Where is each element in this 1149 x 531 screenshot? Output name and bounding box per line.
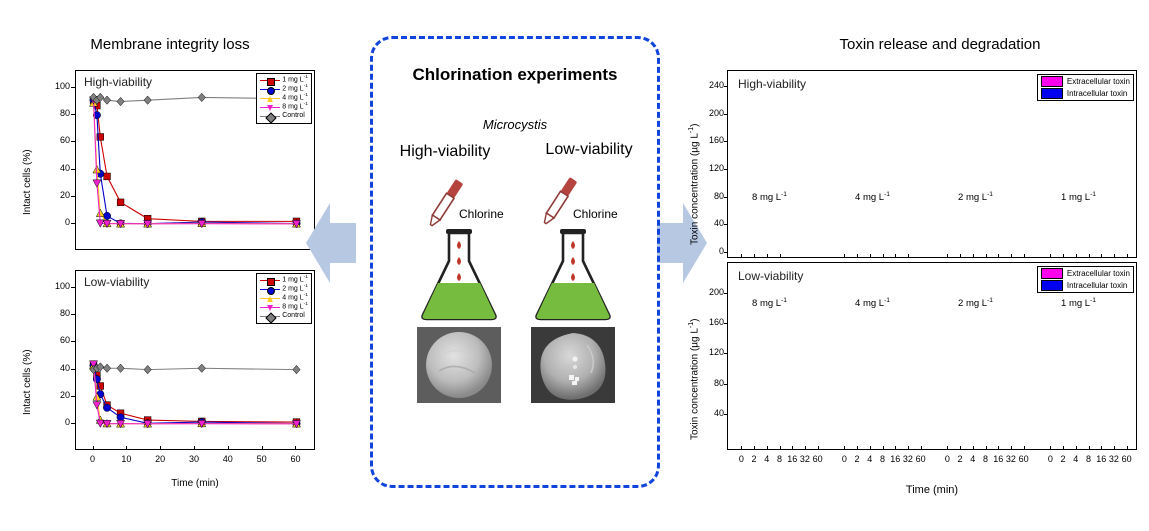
toxin-high-viability-tag: High-viability [738, 77, 806, 91]
x-tick-mark [767, 446, 768, 450]
membrane-high-viability-tag: High-viability [84, 75, 152, 89]
x-tick-mark [908, 254, 909, 258]
x-tick-mark [1063, 254, 1064, 258]
x-tick-mark [1050, 446, 1051, 450]
toxin-xlabel: Time (min) [727, 484, 1137, 496]
toxin-low-viability-tag: Low-viability [738, 269, 803, 283]
x-tick-mark [1101, 254, 1102, 258]
left-chart-title: Membrane integrity loss [0, 36, 340, 53]
toxin-low-viability-plot: 8 mg L-14 mg L-12 mg L-11 mg L-1 Low-via… [727, 262, 1137, 450]
y-tick-label: 0 [40, 417, 70, 427]
y-tick-mark [71, 141, 75, 142]
y-tick-mark [724, 169, 728, 170]
x-tick-mark [295, 446, 296, 450]
x-tick-mark [262, 446, 263, 450]
chlorine-label-left: Chlorine [459, 207, 504, 221]
x-tick-mark [857, 254, 858, 258]
dose-group-label: 2 mg L-1 [958, 191, 993, 203]
y-tick-label: 200 [692, 287, 724, 297]
x-tick-label: 60 [912, 454, 930, 464]
x-tick-mark [998, 254, 999, 258]
x-tick-label: 30 [184, 454, 204, 464]
y-tick-mark [71, 196, 75, 197]
x-tick-mark [780, 446, 781, 450]
center-high-viability-label: High-viability [377, 143, 513, 161]
x-tick-mark [1063, 446, 1064, 450]
intracellular-swatch-icon [1041, 280, 1063, 291]
x-tick-mark [160, 446, 161, 450]
toxin-figure: Toxin release and degradation 8 mg L-14 … [680, 0, 1149, 531]
x-tick-mark [1024, 254, 1025, 258]
x-tick-label: 60 [1118, 454, 1136, 464]
x-tick-mark [986, 254, 987, 258]
x-tick-mark [1050, 254, 1051, 258]
arrow-left [306, 185, 358, 295]
membrane-high-viability-legend: 1 mg L-12 mg L-14 mg L-18 mg L-1Control [256, 73, 312, 124]
extracellular-swatch-icon [1041, 76, 1063, 87]
toxin-legend-item: Extracellular toxin [1041, 76, 1130, 88]
y-tick-label: 80 [40, 108, 70, 118]
y-tick-mark [724, 323, 728, 324]
y-tick-label: 60 [40, 335, 70, 345]
legend-label: Control [282, 312, 305, 321]
y-tick-label: 40 [40, 363, 70, 373]
toxin-legend-label: Extracellular toxin [1067, 76, 1130, 88]
x-tick-mark [908, 446, 909, 450]
membrane-high-viability-plot: High-viability 1 mg L-12 mg L-14 mg L-18… [75, 70, 315, 250]
x-tick-mark [93, 446, 94, 450]
y-tick-mark [71, 287, 75, 288]
x-tick-mark [741, 254, 742, 258]
toxin-legend-label: Intracellular toxin [1067, 280, 1127, 292]
y-tick-mark [724, 353, 728, 354]
x-tick-mark [1011, 446, 1012, 450]
y-tick-label: 20 [40, 190, 70, 200]
x-tick-mark [960, 446, 961, 450]
x-tick-mark [870, 446, 871, 450]
membrane-integrity-figure: Membrane integrity loss High-viability 1… [0, 0, 340, 531]
membrane-xlabel: Time (min) [0, 478, 390, 489]
membrane-low-ylabel: Intact cells (%) [22, 349, 33, 415]
x-tick-mark [754, 254, 755, 258]
x-tick-mark [1076, 446, 1077, 450]
legend-item-4: 8 mg L-1 [260, 303, 308, 312]
x-tick-mark [792, 446, 793, 450]
legend-item-5: Control [260, 312, 308, 321]
x-tick-label: 20 [150, 454, 170, 464]
toxin-legend-item: Intracellular toxin [1041, 280, 1130, 292]
x-tick-label: 0 [83, 454, 103, 464]
y-tick-label: 20 [40, 390, 70, 400]
y-tick-label: 60 [40, 135, 70, 145]
legend-item-5: Control [260, 112, 308, 121]
x-tick-mark [780, 254, 781, 258]
x-tick-mark [1114, 446, 1115, 450]
y-tick-mark [71, 396, 75, 397]
x-tick-mark [973, 446, 974, 450]
x-tick-mark [844, 446, 845, 450]
x-tick-mark [857, 446, 858, 450]
x-tick-mark [895, 446, 896, 450]
x-tick-mark [1089, 446, 1090, 450]
y-tick-label: 100 [40, 81, 70, 91]
legend-marker-circle-icon [260, 286, 280, 294]
membrane-low-viability-plot: Low-viability 1 mg L-12 mg L-14 mg L-18 … [75, 270, 315, 450]
y-tick-label: 200 [692, 108, 724, 118]
dose-group-label: 4 mg L-1 [855, 191, 890, 203]
sem-image-low-viability [531, 327, 615, 403]
legend-marker-diamond-icon [260, 113, 280, 121]
toxin-legend-label: Extracellular toxin [1067, 268, 1130, 280]
legend-marker-triangle-up-icon [260, 295, 280, 303]
y-tick-mark [724, 197, 728, 198]
toxin-high-ylabel: Toxin concentration (µg L-1) [688, 123, 700, 245]
y-tick-mark [71, 341, 75, 342]
y-tick-mark [71, 314, 75, 315]
x-tick-mark [767, 254, 768, 258]
y-tick-mark [71, 87, 75, 88]
legend-marker-circle-icon [260, 86, 280, 94]
center-title: Chlorination experiments [373, 65, 657, 85]
x-tick-mark [1127, 254, 1128, 258]
dose-group-label: 4 mg L-1 [855, 297, 890, 309]
y-tick-mark [724, 86, 728, 87]
species-label: Microcystis [373, 117, 657, 132]
intracellular-swatch-icon [1041, 88, 1063, 99]
y-tick-label: 0 [692, 246, 724, 256]
x-tick-mark [754, 446, 755, 450]
chlorine-label-right: Chlorine [573, 207, 618, 221]
legend-marker-diamond-icon [260, 313, 280, 321]
x-tick-mark [870, 254, 871, 258]
x-tick-mark [1127, 446, 1128, 450]
y-tick-mark [71, 369, 75, 370]
y-tick-mark [71, 223, 75, 224]
x-tick-label: 60 [285, 454, 305, 464]
right-chart-title: Toxin release and degradation [740, 36, 1140, 53]
legend-marker-square-icon [260, 277, 280, 285]
y-tick-mark [724, 414, 728, 415]
toxin-legend-item: Intracellular toxin [1041, 88, 1130, 100]
dose-group-label: 1 mg L-1 [1061, 297, 1096, 309]
y-tick-label: 0 [40, 217, 70, 227]
y-tick-label: 80 [40, 308, 70, 318]
x-tick-mark [895, 254, 896, 258]
x-tick-mark [998, 446, 999, 450]
flask-left-icon [413, 225, 505, 321]
legend-marker-square-icon [260, 77, 280, 85]
x-tick-mark [194, 446, 195, 450]
y-tick-mark [724, 114, 728, 115]
dose-group-label: 2 mg L-1 [958, 297, 993, 309]
sem-image-high-viability [417, 327, 501, 403]
toxin-high-viability-legend: Extracellular toxinIntracellular toxin [1037, 74, 1134, 101]
legend-marker-triangle-up-icon [260, 95, 280, 103]
x-tick-mark [1024, 446, 1025, 450]
toxin-low-viability-legend: Extracellular toxinIntracellular toxin [1037, 266, 1134, 293]
legend-label: Control [282, 112, 305, 121]
x-tick-mark [1101, 446, 1102, 450]
x-tick-mark [741, 446, 742, 450]
x-tick-mark [1089, 254, 1090, 258]
y-tick-mark [724, 293, 728, 294]
x-tick-mark [947, 254, 948, 258]
chlorination-experiments-panel: Chlorination experiments Microcystis Hig… [370, 36, 660, 488]
x-tick-mark [986, 446, 987, 450]
x-tick-label: 50 [252, 454, 272, 464]
x-tick-label: 60 [809, 454, 827, 464]
y-tick-label: 240 [692, 80, 724, 90]
x-tick-label: 10 [116, 454, 136, 464]
y-tick-label: 100 [40, 281, 70, 291]
membrane-low-viability-tag: Low-viability [84, 275, 149, 289]
y-tick-mark [71, 169, 75, 170]
toxin-legend-item: Extracellular toxin [1041, 268, 1130, 280]
y-tick-mark [71, 114, 75, 115]
x-tick-mark [947, 446, 948, 450]
y-tick-mark [724, 141, 728, 142]
x-tick-mark [805, 446, 806, 450]
x-tick-mark [883, 254, 884, 258]
dose-group-label: 8 mg L-1 [752, 297, 787, 309]
legend-marker-triangle-down-icon [260, 304, 280, 312]
flask-right-icon [527, 225, 619, 321]
x-tick-mark [818, 446, 819, 450]
x-tick-mark [844, 254, 845, 258]
x-tick-mark [1114, 254, 1115, 258]
x-tick-mark [228, 446, 229, 450]
toxin-high-viability-plot: 8 mg L-14 mg L-12 mg L-11 mg L-1 High-vi… [727, 70, 1137, 258]
dose-group-label: 1 mg L-1 [1061, 191, 1096, 203]
x-tick-mark [1076, 254, 1077, 258]
x-tick-mark [1011, 254, 1012, 258]
pipette-left-icon [425, 175, 465, 231]
toxin-legend-label: Intracellular toxin [1067, 88, 1127, 100]
extracellular-swatch-icon [1041, 268, 1063, 279]
legend-label: 8 mg L-1 [282, 102, 308, 112]
y-tick-mark [724, 224, 728, 225]
x-tick-label: 60 [1015, 454, 1033, 464]
x-tick-mark [883, 446, 884, 450]
x-tick-mark [973, 254, 974, 258]
x-tick-label: 40 [218, 454, 238, 464]
y-tick-mark [724, 252, 728, 253]
toxin-low-ylabel: Toxin concentration (µg L-1) [688, 318, 700, 440]
dose-group-label: 8 mg L-1 [752, 191, 787, 203]
legend-label: 8 mg L-1 [282, 302, 308, 312]
legend-marker-triangle-down-icon [260, 104, 280, 112]
x-tick-mark [921, 446, 922, 450]
y-tick-mark [724, 384, 728, 385]
center-low-viability-label: Low-viability [519, 141, 659, 159]
y-tick-label: 40 [40, 163, 70, 173]
x-tick-mark [126, 446, 127, 450]
y-tick-mark [71, 423, 75, 424]
membrane-high-ylabel: Intact cells (%) [22, 149, 33, 215]
x-tick-mark [960, 254, 961, 258]
membrane-low-viability-legend: 1 mg L-12 mg L-14 mg L-18 mg L-1Control [256, 273, 312, 324]
legend-item-4: 8 mg L-1 [260, 103, 308, 112]
